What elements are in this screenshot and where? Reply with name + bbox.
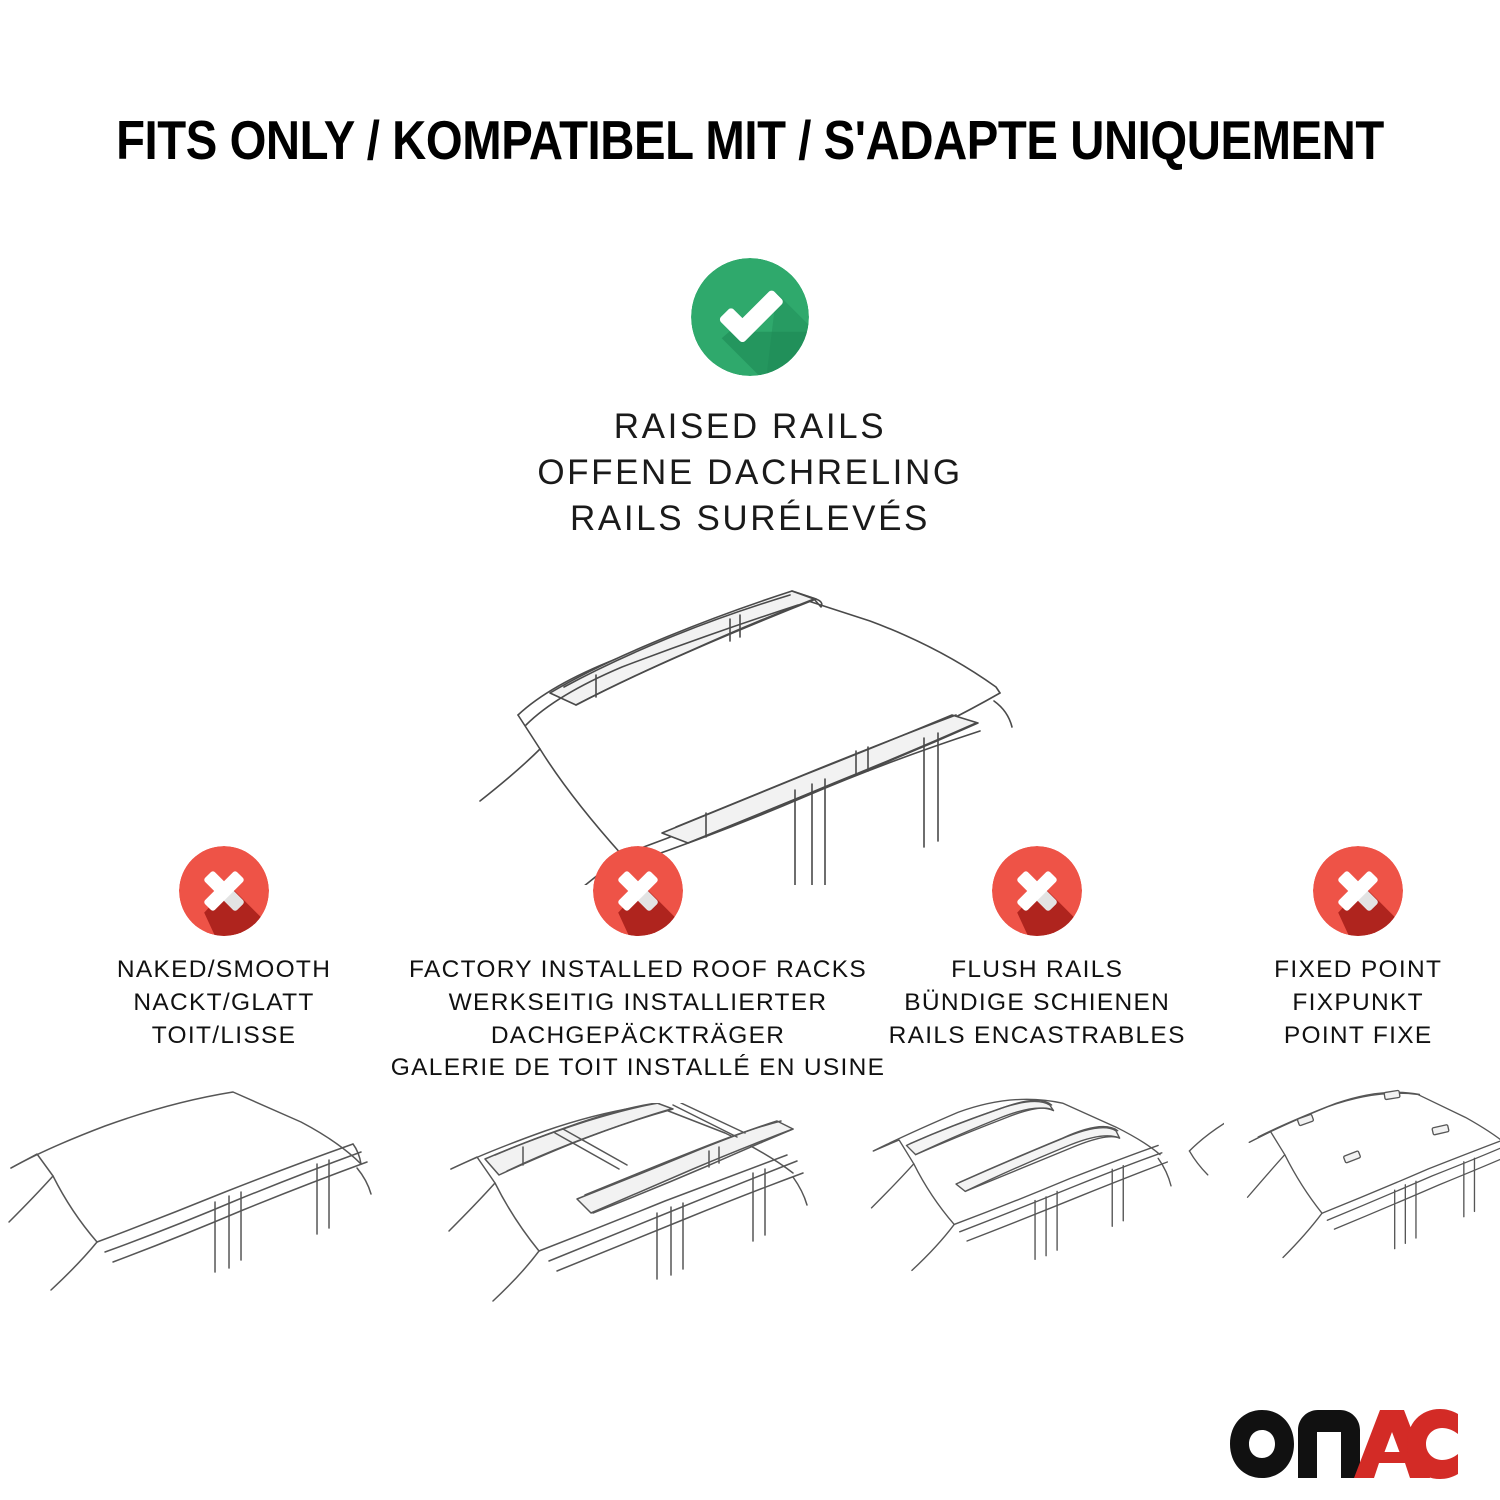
compatible-section: RAISED RAILS OFFENE DACHRELING RAILS SUR… — [0, 258, 1500, 885]
cross-circle-icon — [593, 846, 683, 936]
label-line: TOIT/LISSE — [117, 1020, 331, 1053]
label-line: FIXED POINT — [1274, 954, 1442, 987]
cross-circle-icon — [179, 846, 269, 936]
label-line: BÜNDIGE SCHIENEN — [889, 987, 1186, 1020]
option-naked-smooth: NAKED/SMOOTH NACKT/GLATT TOIT/LISSE — [15, 846, 433, 1336]
label-line: FLUSH RAILS — [889, 954, 1186, 987]
car-roof-naked-smooth-illustration — [0, 1072, 405, 1342]
label-line: WERKSEITIG INSTALLIERTER — [391, 987, 885, 1020]
cross-circle-icon — [992, 846, 1082, 936]
option-naked-smooth-label: NAKED/SMOOTH NACKT/GLATT TOIT/LISSE — [117, 954, 331, 1052]
label-line: NACKT/GLATT — [117, 987, 331, 1020]
label-line: POINT FIXE — [1274, 1020, 1442, 1053]
car-roof-raised-rails-illustration — [400, 565, 1100, 885]
compatible-label-line-de: OFFENE DACHRELING — [537, 450, 962, 496]
incompatible-section: NAKED/SMOOTH NACKT/GLATT TOIT/LISSE — [0, 846, 1500, 1369]
omac-logo: OMAC — [1228, 1408, 1460, 1482]
option-flush-rails: FLUSH RAILS BÜNDIGE SCHIENEN RAILS ENCAS… — [858, 846, 1216, 1336]
label-line: FIXPUNKT — [1274, 987, 1442, 1020]
compatible-label-line-fr: RAILS SURÉLEVÉS — [537, 496, 962, 542]
car-roof-fixed-point-illustration — [1244, 1072, 1500, 1342]
label-line: DACHGEPÄCKTRÄGER — [391, 1020, 885, 1053]
option-factory-roof-racks: FACTORY INSTALLED ROOF RACKS WERKSEITIG … — [423, 846, 853, 1369]
label-line: NAKED/SMOOTH — [117, 954, 331, 987]
option-factory-roof-racks-label: FACTORY INSTALLED ROOF RACKS WERKSEITIG … — [391, 954, 885, 1085]
compatible-label-line-en: RAISED RAILS — [537, 404, 962, 450]
car-roof-flush-rails-illustration — [866, 1072, 1224, 1342]
option-fixed-point-label: FIXED POINT FIXPUNKT POINT FIXE — [1274, 954, 1442, 1052]
page-title: FITS ONLY / KOMPATIBEL MIT / S'ADAPTE UN… — [105, 108, 1395, 172]
label-line: RAILS ENCASTRABLES — [889, 1020, 1186, 1053]
label-line: FACTORY INSTALLED ROOF RACKS — [391, 954, 885, 987]
cross-circle-icon — [1313, 846, 1403, 936]
label-line: GALERIE DE TOIT INSTALLÉ EN USINE — [391, 1052, 885, 1085]
car-roof-factory-racks-illustration — [417, 1103, 847, 1373]
option-fixed-point: FIXED POINT FIXPUNKT POINT FIXE — [1216, 846, 1500, 1336]
compatible-label: RAISED RAILS OFFENE DACHRELING RAILS SUR… — [537, 404, 962, 543]
check-circle-icon — [691, 258, 809, 376]
option-flush-rails-label: FLUSH RAILS BÜNDIGE SCHIENEN RAILS ENCAS… — [889, 954, 1186, 1052]
